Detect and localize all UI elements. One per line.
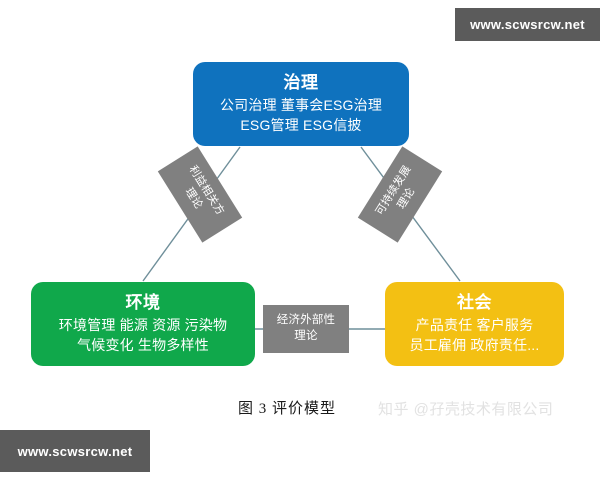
edge-label-economic-externality-theory[interactable]: 经济外部性 理论: [263, 305, 349, 353]
edge-label-stakeholder-theory[interactable]: 利益相关方 理论: [158, 146, 242, 242]
figure-caption: 图 3 评价模型: [238, 397, 336, 418]
node-environment-title: 环境: [126, 292, 161, 313]
node-environment[interactable]: 环境 环境管理 能源 资源 污染物 气候变化 生物多样性: [31, 282, 255, 366]
node-social-title: 社会: [457, 292, 492, 313]
edge-label-sustainable-development-theory[interactable]: 可持续发展 理论: [358, 146, 442, 242]
node-environment-line-2: 气候变化 生物多样性: [77, 336, 209, 356]
edge-label-economic-externality-theory-line-1: 经济外部性: [277, 313, 336, 329]
figure-canvas: 治理 公司治理 董事会ESG治理 ESG管理 ESG信披 环境 环境管理 能源 …: [0, 0, 600, 480]
edge-label-economic-externality-theory-line-2: 理论: [294, 329, 317, 345]
node-environment-line-1: 环境管理 能源 资源 污染物: [59, 316, 227, 336]
node-social-line-1: 产品责任 客户服务: [416, 316, 534, 336]
node-governance[interactable]: 治理 公司治理 董事会ESG治理 ESG管理 ESG信披: [193, 62, 409, 146]
node-governance-title: 治理: [284, 72, 319, 93]
source-badge-top-right: www.scwsrcw.net: [455, 8, 600, 41]
node-governance-line-1: 公司治理 董事会ESG治理: [220, 96, 382, 116]
source-badge-bottom-left: www.scwsrcw.net: [0, 430, 150, 472]
node-social-line-2: 员工雇佣 政府责任...: [410, 336, 540, 356]
node-governance-line-2: ESG管理 ESG信披: [240, 116, 361, 136]
watermark-text: 知乎 @孖壳技术有限公司: [378, 398, 553, 419]
node-social[interactable]: 社会 产品责任 客户服务 员工雇佣 政府责任...: [385, 282, 564, 366]
